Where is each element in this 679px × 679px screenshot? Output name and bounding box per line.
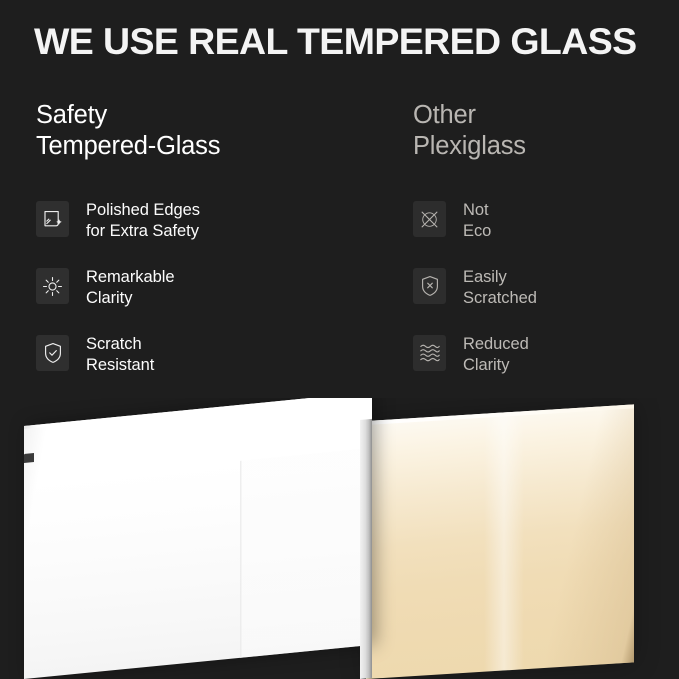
feature-label-line1: Reduced (463, 335, 529, 353)
column-left-title: Safety Tempered-Glass (36, 100, 386, 162)
column-left-title-line1: Safety (36, 101, 107, 129)
sun-brightness-icon (36, 268, 69, 304)
polished-square-sparkle-icon (36, 201, 69, 237)
feature-label-line2: Clarity (463, 355, 529, 376)
tempered-glass-panel-edge (360, 419, 372, 679)
feature-label: Easily Scratched (463, 265, 537, 309)
feature-label-line1: Not (463, 201, 489, 219)
column-left-feature-list: Polished Edges for Extra Safety Remarkab… (36, 198, 386, 399)
feature-label-line1: Scratch (86, 335, 142, 353)
column-right-feature-list: Not Eco Easily Scratched (413, 198, 673, 399)
column-safety-tempered-glass: Safety Tempered-Glass Polis (36, 100, 386, 162)
feature-label-line2: Scratched (463, 288, 537, 309)
feature-row: Not Eco (413, 198, 673, 265)
feature-label-line1: Remarkable (86, 268, 174, 286)
column-right-title-line2: Plexiglass (413, 131, 673, 162)
plexiglass-panel (366, 404, 634, 679)
column-other-plexiglass: Other Plexiglass Not Eco (413, 100, 673, 162)
feature-label-line1: Easily (463, 268, 507, 286)
feature-label-line2: Eco (463, 221, 491, 242)
feature-label: Reduced Clarity (463, 332, 529, 376)
feature-label: Remarkable Clarity (86, 265, 174, 309)
feature-row: Scratch Resistant (36, 332, 386, 399)
feature-label: Scratch Resistant (86, 332, 154, 376)
wavy-lines-icon (413, 335, 446, 371)
feature-row: Remarkable Clarity (36, 265, 386, 332)
page-title: WE USE REAL TEMPERED GLASS (34, 19, 654, 63)
feature-label-line2: for Extra Safety (86, 221, 200, 242)
comparison-columns: Safety Tempered-Glass Polis (0, 100, 679, 400)
column-right-title-line1: Other (413, 101, 476, 129)
feature-label: Not Eco (463, 198, 491, 242)
feature-label-line1: Polished Edges (86, 201, 200, 219)
feature-row: Easily Scratched (413, 265, 673, 332)
leaf-crossed-out-icon (413, 201, 446, 237)
tempered-glass-panel (24, 398, 372, 679)
feature-label: Polished Edges for Extra Safety (86, 198, 200, 242)
feature-label-line2: Clarity (86, 288, 174, 309)
tempered-glass-corner-notch (24, 453, 34, 463)
infographic-page: WE USE REAL TEMPERED GLASS Safety Temper… (0, 0, 679, 679)
feature-label-line2: Resistant (86, 355, 154, 376)
shield-check-icon (36, 335, 69, 371)
feature-row: Polished Edges for Extra Safety (36, 198, 386, 265)
feature-row: Reduced Clarity (413, 332, 673, 399)
product-comparison-photo (0, 398, 679, 679)
shield-x-icon (413, 268, 446, 304)
column-left-title-line2: Tempered-Glass (36, 131, 386, 162)
column-right-title: Other Plexiglass (413, 100, 673, 162)
